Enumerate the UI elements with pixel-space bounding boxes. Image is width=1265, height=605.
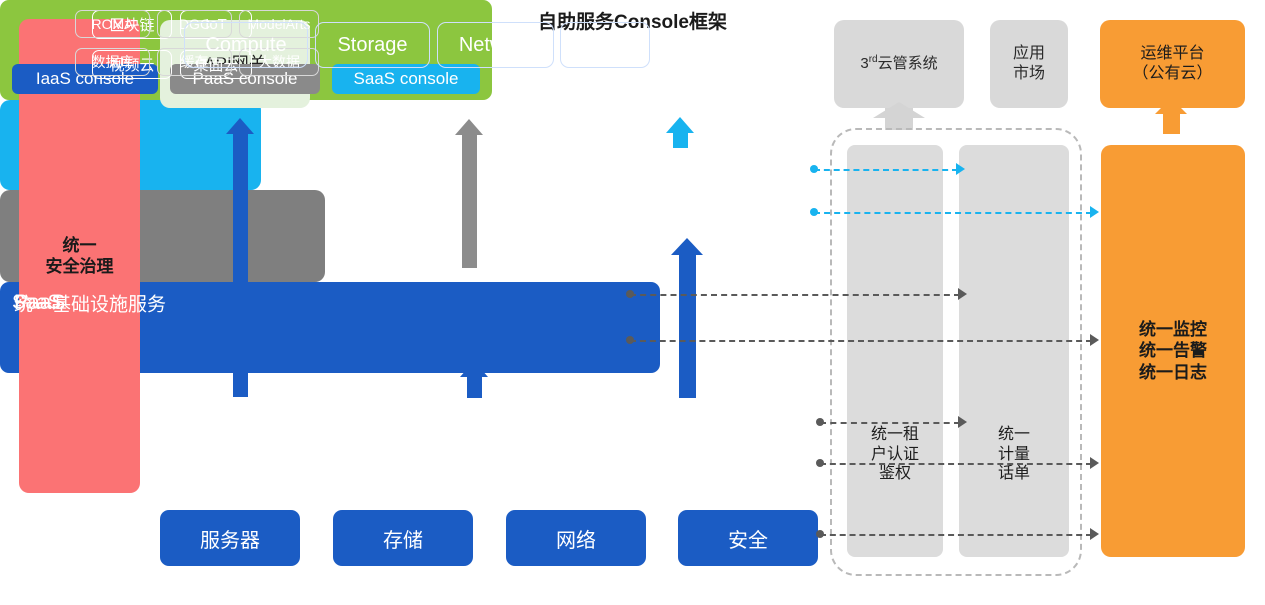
arrow-paas-to-console-head-icon: [455, 119, 483, 135]
connector-infra-to-ops-icon: [820, 463, 1092, 465]
ops-line-2: 统一告警: [1139, 340, 1207, 361]
meter-line-1: 统一: [959, 425, 1069, 445]
app-market-line-2: 市场: [1013, 64, 1045, 84]
infra-chip-network[interactable]: Network: [437, 22, 554, 68]
resource-box-security-label: 安全: [728, 524, 768, 553]
unified-infrastructure-label: 统一基础设施服务: [14, 289, 166, 316]
ops-top-line-2: （公有云）: [1132, 64, 1212, 84]
security-line-1: 统一: [46, 235, 114, 256]
resource-box-network[interactable]: 网络: [506, 510, 646, 566]
third-party-superscript: rd: [869, 54, 878, 65]
arrow-to-ops-platform-shaft-icon: [1163, 112, 1180, 134]
unified-ops-label: 统一监控 统一告警 统一日志: [1139, 319, 1207, 383]
resource-box-storage-label: 存储: [383, 524, 423, 553]
arrow-saas-to-console-shaft-icon: [673, 132, 688, 148]
saas-console-chip[interactable]: SaaS console: [332, 64, 480, 94]
resource-box-network-label: 网络: [556, 524, 596, 553]
paas-chip-database-label: 数据库: [92, 52, 134, 72]
arrow-infra-to-paas-head-icon: [460, 361, 488, 377]
connector-infra-to-auth-icon: [820, 422, 960, 424]
security-governance-label: 统一 安全治理: [46, 235, 114, 278]
ops-line-1: 统一监控: [1139, 319, 1207, 340]
third-party-prefix: 3: [860, 55, 868, 72]
infra-chip-cce-label: CCE: [584, 34, 626, 57]
unified-ops-panel[interactable]: 统一监控 统一告警 统一日志: [1101, 145, 1245, 557]
meter-line-2: 计量: [959, 445, 1069, 465]
ops-top-line-1: 运维平台: [1132, 44, 1212, 64]
app-market-line-1: 应用: [1013, 44, 1045, 64]
unified-metering-billing-label: 统一 计量 话单: [959, 425, 1069, 484]
infra-chip-storage-label: Storage: [337, 34, 407, 57]
auth-line-1: 统一租: [847, 425, 943, 445]
connector-arrowhead-infra-auth-icon: [958, 416, 967, 428]
connector-paas-to-ops-icon: [630, 340, 1092, 342]
unified-tenant-auth-label: 统一租 户认证 鉴权: [847, 425, 943, 484]
security-line-2: 安全治理: [46, 256, 114, 277]
paas-chip-roma-label: ROMA: [92, 16, 134, 32]
connector-paas-to-auth-icon: [630, 294, 960, 296]
infra-chip-compute-label: Compute: [205, 34, 286, 57]
app-market-label: 应用 市场: [1013, 44, 1045, 84]
paas-chip-database[interactable]: 数据库: [75, 48, 150, 76]
infra-chip-network-label: Network: [459, 34, 532, 57]
architecture-diagram: 统一 安全治理 API网关 自助服务Console框架 IaaS console…: [0, 0, 1265, 605]
arrow-infra-to-saas-shaft-icon: [679, 253, 696, 398]
arrow-to-ops-platform-head-icon: [1155, 98, 1187, 114]
ops-platform-public-cloud-box[interactable]: 运维平台 （公有云）: [1100, 20, 1245, 108]
connector-arrowhead-paas-ops-icon: [1090, 334, 1099, 346]
resource-box-storage[interactable]: 存储: [333, 510, 473, 566]
arrow-paas-to-console-shaft-icon: [462, 134, 477, 268]
auth-line-3: 鉴权: [847, 464, 943, 484]
resource-box-security[interactable]: 安全: [678, 510, 818, 566]
connector-resource-to-ops-icon: [820, 534, 1092, 536]
connector-arrowhead-saas-ops-icon: [1090, 206, 1099, 218]
ops-top-label: 运维平台 （公有云）: [1132, 44, 1212, 84]
unified-metering-billing-column[interactable]: 统一 计量 话单: [959, 145, 1069, 557]
arrow-infra-to-api-gateway-head-icon: [226, 118, 254, 134]
arrow-infra-to-saas-head-icon: [671, 238, 703, 255]
arrow-saas-to-console-head-icon: [666, 117, 694, 133]
third-party-label: 3rd云管系统: [860, 54, 937, 74]
third-party-cloud-mgmt-box[interactable]: 3rd云管系统: [834, 20, 964, 108]
arrow-infra-to-api-gateway-shaft-icon: [233, 132, 248, 397]
connector-saas-to-ops-icon: [814, 212, 1092, 214]
infra-chip-compute[interactable]: Compute: [184, 22, 308, 68]
unified-tenant-auth-column[interactable]: 统一租 户认证 鉴权: [847, 145, 943, 557]
saas-console-label: SaaS console: [354, 69, 459, 89]
meter-line-3: 话单: [959, 464, 1069, 484]
infra-chip-storage[interactable]: Storage: [315, 22, 430, 68]
app-market-box[interactable]: 应用 市场: [990, 20, 1068, 108]
arrow-infra-to-paas-shaft-icon: [467, 375, 482, 398]
connector-arrowhead-saas-auth-icon: [956, 163, 965, 175]
connector-arrowhead-infra-ops-icon: [1090, 457, 1099, 469]
resource-box-server[interactable]: 服务器: [160, 510, 300, 566]
resource-box-server-label: 服务器: [200, 524, 260, 553]
auth-line-2: 户认证: [847, 445, 943, 465]
infra-chip-cce[interactable]: CCE: [560, 22, 650, 68]
connector-saas-to-auth-icon: [814, 169, 958, 171]
arrow-shaft-to-third-party-icon: [885, 108, 913, 130]
third-party-suffix: 云管系统: [878, 55, 938, 72]
paas-chip-roma[interactable]: ROMA: [75, 10, 150, 38]
connector-arrowhead-resource-ops-icon: [1090, 528, 1099, 540]
connector-arrowhead-paas-auth-icon: [958, 288, 967, 300]
ops-line-3: 统一日志: [1139, 362, 1207, 383]
